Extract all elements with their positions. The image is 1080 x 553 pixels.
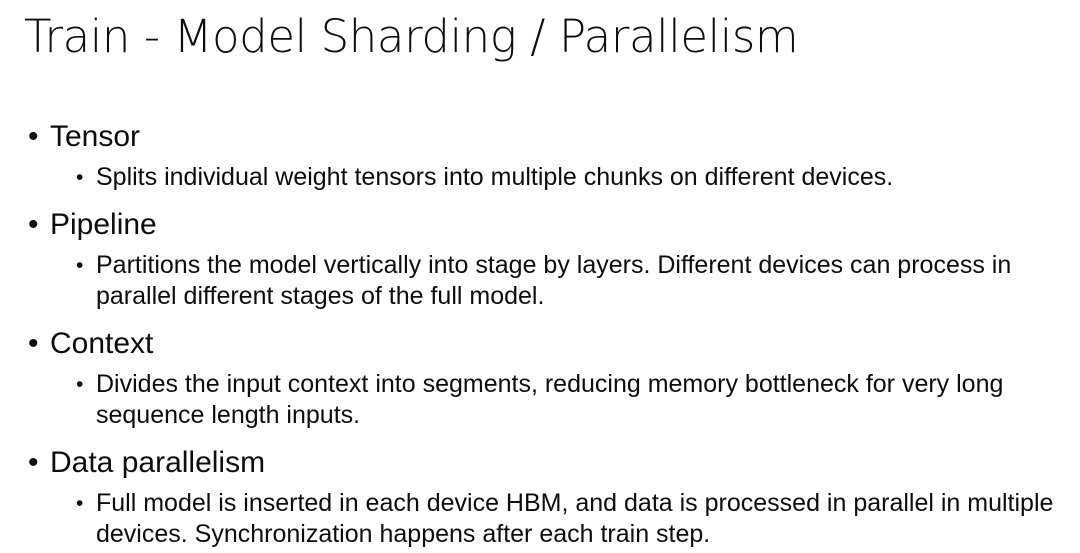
bullet-point-icon: •	[28, 118, 50, 156]
spacer	[0, 312, 1080, 325]
bullet-level1-label: Context	[50, 327, 153, 360]
bullet-level2-pipeline-detail: • Partitions the model vertically into s…	[0, 250, 1080, 312]
bullet-point-icon: •	[28, 444, 50, 482]
bullet-point-icon: •	[76, 250, 96, 281]
bullet-level2-label: Full model is inserted in each device HB…	[96, 488, 1061, 550]
bullet-point-icon: •	[28, 206, 50, 244]
bullet-point-icon: •	[76, 369, 96, 400]
bullet-level1-label: Data parallelism	[50, 446, 265, 479]
bullet-group-tensor: • Tensor • Splits individual weight tens…	[0, 118, 1080, 193]
bullet-level2-label: Divides the input context into segments,…	[96, 369, 1061, 431]
bullet-level1-label: Tensor	[50, 120, 140, 153]
spacer	[0, 193, 1080, 206]
bullet-level1-label: Pipeline	[50, 208, 157, 241]
bullet-level2-context-detail: • Divides the input context into segment…	[0, 369, 1080, 431]
bullet-level2-data-parallelism-detail: • Full model is inserted in each device …	[0, 488, 1080, 550]
bullet-level2-tensor-detail: • Splits individual weight tensors into …	[0, 162, 1080, 193]
bullet-group-pipeline: • Pipeline • Partitions the model vertic…	[0, 206, 1080, 312]
bullet-point-icon: •	[28, 325, 50, 363]
bullet-point-icon: •	[76, 488, 96, 519]
bullet-level2-label: Partitions the model vertically into sta…	[96, 250, 1061, 312]
bullet-level2-label: Splits individual weight tensors into mu…	[96, 162, 1061, 193]
slide-body: • Tensor • Splits individual weight tens…	[0, 118, 1080, 550]
slide-title: Train - Model Sharding / Parallelism	[24, 8, 1054, 66]
spacer	[0, 431, 1080, 444]
bullet-level1-context: • Context	[0, 325, 1080, 363]
slide: Train - Model Sharding / Parallelism • T…	[0, 0, 1080, 553]
bullet-level1-tensor: • Tensor	[0, 118, 1080, 156]
bullet-level1-data-parallelism: • Data parallelism	[0, 444, 1080, 482]
bullet-group-context: • Context • Divides the input context in…	[0, 325, 1080, 431]
bullet-point-icon: •	[76, 162, 96, 193]
bullet-group-data-parallelism: • Data parallelism • Full model is inser…	[0, 444, 1080, 550]
bullet-level1-pipeline: • Pipeline	[0, 206, 1080, 244]
